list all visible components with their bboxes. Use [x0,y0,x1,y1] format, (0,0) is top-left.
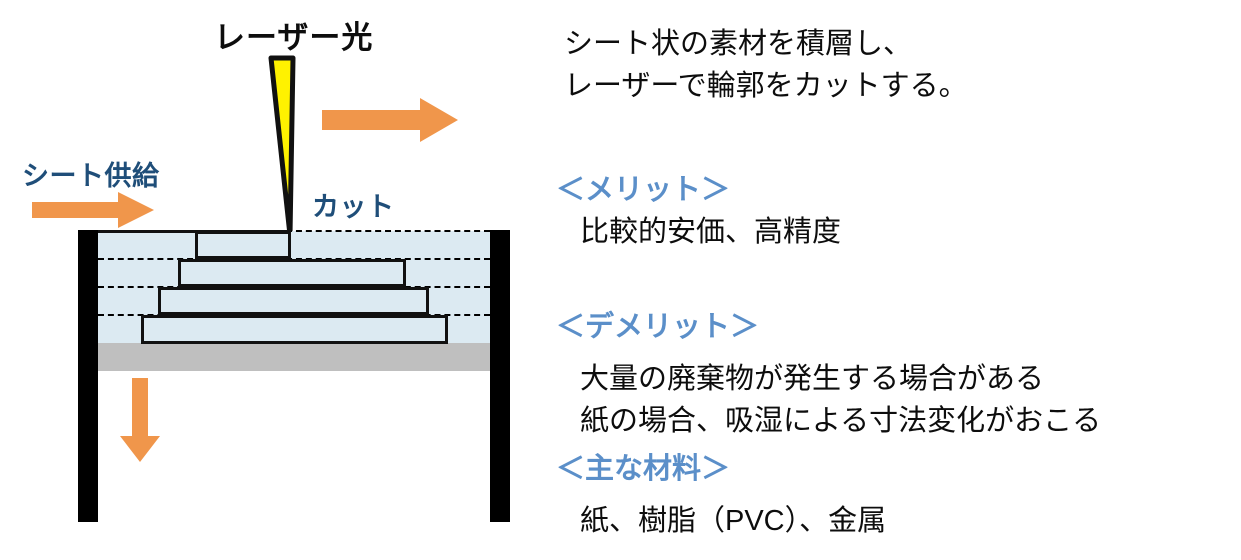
merit-text-line: 比較的安価、高精度 [580,208,841,250]
intro-text-line: シート状の素材を積層し、 [564,20,912,62]
demerit-text-line: 紙の場合、吸湿による寸法変化がおこる [580,397,1101,439]
merit-section-heading: ＜メリット＞ [556,166,730,208]
demerit-section-heading: ＜デメリット＞ [556,303,759,345]
build-platform-band [98,343,490,371]
stacked-layer [158,287,429,315]
description-panel: シート状の素材を積層し、 レーザーで輪郭をカットする。 ＜メリット＞ 比較的安価… [548,0,1241,560]
demerit-text-line: 大量の廃棄物が発生する場合がある [580,355,1044,397]
build-chamber [0,0,540,560]
laser-cut-kerf-line [288,231,291,260]
stacked-layer [195,231,291,259]
stacked-layer [141,315,448,344]
cut-label: カット [312,185,395,224]
material-text-line: 紙、樹脂（PVC）、金属 [580,497,886,539]
intro-text-line: レーザーで輪郭をカットする。 [564,62,968,104]
laminated-object-manufacturing-diagram: レーザー光 シート供給 カット [0,0,540,560]
sheet-feed-label: シート供給 [22,154,160,193]
chamber-post-left [78,230,98,522]
stacked-layer [178,259,406,287]
top-sheet-surface-line [98,230,291,233]
material-section-heading: ＜主な材料＞ [556,445,730,487]
chamber-post-right [490,230,510,522]
